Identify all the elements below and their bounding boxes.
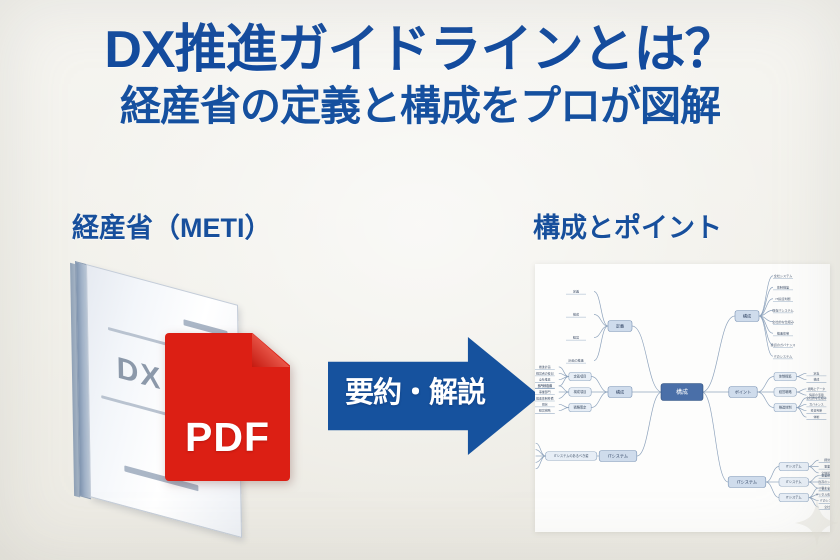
mindmap-node[interactable]: 戦略策定 xyxy=(569,403,591,412)
mindmap-leaf-label: 経営者の役割 xyxy=(536,370,553,375)
mindmap-leaf-label: 定義 xyxy=(573,289,579,294)
mindmap-card[interactable]: 定義構成経営計画の推進定義定義項目推進計画経営者の役割全社推進部門の役割構成項目… xyxy=(535,264,830,532)
mindmap-link xyxy=(809,467,819,473)
mindmap-leaf-label: 構成 xyxy=(573,312,579,317)
mindmap-link xyxy=(591,392,608,408)
mindmap-leaf[interactable]: デジタル化のテーマ xyxy=(816,491,830,497)
mindmap-node-label: ITシステム xyxy=(786,495,802,500)
mindmap-link xyxy=(591,377,608,393)
arrow-label: 要約・解説 xyxy=(340,369,490,411)
mindmap-leaf[interactable]: 構成 xyxy=(566,312,586,318)
mindmap-leaf[interactable]: 定義 xyxy=(566,289,586,295)
slide-canvas: DX推進ガイドラインとは？ 経産省の定義と構成をプロが図解 経産省（METI） … xyxy=(0,0,840,560)
mindmap-node-label: ITシステム xyxy=(786,464,802,469)
mindmap-leaf[interactable]: 戦略とデータ xyxy=(806,386,826,392)
mindmap-node[interactable]: 構成 xyxy=(735,311,759,322)
mindmap-node[interactable]: 構成 xyxy=(608,387,632,398)
mindmap-leaf-label: 戦略とデータ xyxy=(808,386,825,391)
mindmap-leaf-label: 経営者 xyxy=(824,457,830,462)
mindmap-diagram: 定義構成経営計画の推進定義定義項目推進計画経営者の役割全社推進部門の役割構成項目… xyxy=(535,264,830,532)
mindmap-leaf-label: 体制構築 xyxy=(777,284,789,289)
mindmap-link xyxy=(757,392,774,408)
mindmap-node-label: 経営戦略 xyxy=(779,389,793,394)
page-title: DX推進ガイドラインとは？ xyxy=(0,22,840,78)
mindmap-leaf[interactable]: 推進計画 xyxy=(535,364,555,370)
mindmap-leaf-label: ITのシステム xyxy=(774,353,792,358)
mindmap-leaf[interactable]: 定義 xyxy=(806,370,826,376)
mindmap-node-label: 戦略策定 xyxy=(574,405,588,410)
mindmap-leaf-label: 事業者 xyxy=(824,464,830,469)
mindmap-node-label: 構成 xyxy=(676,388,688,396)
mindmap-leaf[interactable]: 全社推進 xyxy=(535,377,555,383)
mindmap-leaf-label: 経営戦略 xyxy=(539,408,551,413)
mindmap-leaf[interactable]: 投資のガバナンス xyxy=(771,342,796,348)
mindmap-leaf-label: 全社的な仕組み xyxy=(806,395,826,400)
mindmap-link xyxy=(809,482,819,488)
mindmap-node-label: 推進体制 xyxy=(779,405,792,410)
mindmap-node[interactable]: ITシステム xyxy=(599,451,637,462)
mindmap-node-label: 構成 xyxy=(743,312,751,318)
mindmap-leaf[interactable]: 構成 xyxy=(806,377,826,383)
mindmap-link xyxy=(796,392,806,395)
mindmap-leaf[interactable]: 経営戦略 xyxy=(535,408,555,414)
mindmap-leaf-label: 既存ITシステム xyxy=(772,307,793,312)
pdf-label: PDF xyxy=(165,414,290,461)
mindmap-link xyxy=(759,287,773,316)
mindmap-link xyxy=(559,373,569,376)
mindmap-leaf-label: 経営 xyxy=(573,335,579,340)
mindmap-leaf[interactable]: 推進体制整備 xyxy=(535,395,555,401)
mindmap-link xyxy=(559,404,569,407)
mindmap-leaf[interactable]: 経営 xyxy=(566,335,586,341)
mindmap-node[interactable]: 定義項目 xyxy=(569,372,591,381)
mindmap-link xyxy=(796,404,806,407)
header-block: DX推進ガイドラインとは？ 経産省の定義と構成をプロが図解 xyxy=(0,22,840,129)
mindmap-link xyxy=(759,316,773,356)
mindmap-leaf[interactable]: ITのシステム xyxy=(819,498,830,504)
mindmap-leaf[interactable]: 事業部門 xyxy=(535,389,555,395)
mindmap-leaf-label: 投資のガバナンス xyxy=(771,342,796,347)
mindmap-leaf[interactable]: 全社的な仕組み xyxy=(806,395,826,401)
mindmap-leaf-label: 投資判断 xyxy=(811,408,823,413)
section-label-left: 経産省（METI） xyxy=(72,206,272,245)
mindmap-leaf[interactable]: 現状 xyxy=(535,401,555,407)
mindmap-node[interactable]: ITシステムのあるべき姿 xyxy=(546,452,597,461)
mindmap-node-label: ITシステム xyxy=(737,478,757,484)
mindmap-node[interactable]: 体制構築 xyxy=(774,372,796,381)
pdf-file-icon: PDF xyxy=(165,333,290,481)
mindmap-node-label: 体制構築 xyxy=(779,374,793,379)
mindmap-leaf-label: 計画の推進 xyxy=(568,358,583,363)
mindmap-leaf-label: 体制 xyxy=(814,414,820,419)
mindmap-leaf-label: 全社システム xyxy=(774,273,792,278)
mindmap-leaf-label: 事業部大型 xyxy=(821,473,830,478)
mindmap-leaf[interactable]: 推進体制 xyxy=(773,330,793,336)
mindmap-node-label: ITシステム xyxy=(786,479,802,484)
mindmap-node[interactable]: 推進体制 xyxy=(774,403,796,412)
document-cover-text: DX xyxy=(116,351,162,397)
mindmap-node-label: ポイント xyxy=(735,388,751,394)
mindmap-leaf[interactable]: 経営者 xyxy=(819,457,830,463)
mindmap-link xyxy=(759,276,773,316)
mindmap-leaf-label: 全社的 xyxy=(824,504,830,509)
mindmap-link xyxy=(796,373,806,376)
mindmap-leaf[interactable]: ITのシステム xyxy=(773,353,793,359)
mindmap-link xyxy=(559,392,569,398)
mindmap-leaf-label: 現状 xyxy=(542,401,548,406)
mindmap-leaf-label: 推進計画 xyxy=(539,364,551,369)
mindmap-link xyxy=(759,316,773,345)
mindmap-node-label: 構成項目 xyxy=(574,389,587,394)
mindmap-link xyxy=(637,392,662,456)
mindmap-link xyxy=(809,460,819,466)
mindmap-node[interactable]: 構成項目 xyxy=(569,388,591,397)
mindmap-node[interactable]: ポイント xyxy=(729,387,757,398)
mindmap-node-label: 定義 xyxy=(616,322,624,328)
mindmap-node[interactable]: ITシステム xyxy=(779,462,809,471)
mindmap-leaf[interactable]: 体制 xyxy=(806,414,826,420)
mindmap-node[interactable]: ITシステム xyxy=(728,477,766,488)
mindmap-node-label: 構成 xyxy=(616,388,624,394)
mindmap-node[interactable]: 定義 xyxy=(608,321,632,332)
mindmap-leaf[interactable]: IT人材育成 xyxy=(535,383,555,389)
mindmap-node[interactable]: 経営戦略 xyxy=(774,388,796,397)
mindmap-leaf-label: 構成 xyxy=(814,377,820,382)
mindmap-leaf[interactable]: 経営者の役割 xyxy=(535,370,555,376)
mindmap-leaf[interactable]: 投資判断 xyxy=(806,408,826,414)
mindmap-leaf[interactable]: 事業者 xyxy=(819,464,830,470)
mindmap-leaf[interactable]: 体制構築 xyxy=(773,284,793,290)
mindmap-link xyxy=(766,482,779,498)
section-label-right: 構成とポイント xyxy=(533,206,722,245)
mindmap-link xyxy=(809,476,819,482)
mindmap-link xyxy=(766,467,779,483)
mindmap-link xyxy=(632,326,662,392)
mindmap-leaf[interactable]: 全社システム xyxy=(773,273,793,279)
process-arrow: 要約・解説 xyxy=(328,337,540,455)
mindmap-link xyxy=(559,386,569,392)
mindmap-leaf[interactable]: 全社的な仕組み xyxy=(772,319,794,325)
mindmap-node[interactable]: ITシステム xyxy=(779,493,809,502)
mindmap-leaf[interactable]: 全社的 xyxy=(819,504,830,510)
mindmap-leaf-label: 全社推進 xyxy=(539,377,551,382)
mindmap-node-label: ITシステム xyxy=(608,452,628,458)
mindmap-link xyxy=(702,392,728,482)
mindmap-node[interactable]: 構成 xyxy=(661,384,703,401)
mindmap-node[interactable]: ITシステム xyxy=(779,478,809,487)
mindmap-link xyxy=(702,316,735,392)
mindmap-leaf-label: 定義 xyxy=(814,370,820,375)
page-subtitle: 経産省の定義と構成をプロが図解 xyxy=(0,84,840,129)
mindmap-leaf-label: 既存のシステム xyxy=(819,479,830,484)
mindmap-leaf[interactable]: ガバナンス xyxy=(806,401,826,407)
mindmap-leaf-label: 全社的な仕組み xyxy=(772,319,794,324)
mindmap-link xyxy=(796,377,806,380)
mindmap-leaf-label: 推進体制 xyxy=(777,330,789,335)
mindmap-leaf-label: 事業部門 xyxy=(539,389,551,394)
mindmap-node-label: 定義項目 xyxy=(574,374,587,379)
mindmap-leaf-label: デジタル化のテーマ xyxy=(816,491,830,496)
mindmap-leaf[interactable]: IT投資判断 xyxy=(773,296,793,302)
mindmap-link xyxy=(796,389,806,392)
mindmap-leaf[interactable]: 計画の推進 xyxy=(566,358,586,364)
mindmap-leaf-label: IT投資判断 xyxy=(775,296,790,301)
mindmap-leaf-label: ガバナンス xyxy=(809,401,824,406)
mindmap-link xyxy=(559,408,569,411)
mindmap-leaf-label: ITのシステム xyxy=(820,498,830,503)
mindmap-leaf-label: IT人材育成 xyxy=(538,383,552,388)
mindmap-leaf[interactable]: 既存ITシステム xyxy=(772,307,793,313)
mindmap-leaf[interactable]: 既存のシステム xyxy=(819,479,830,485)
mindmap-node-label: ITシステムのあるべき姿 xyxy=(554,453,589,458)
mindmap-leaf-label: 推進体制整備 xyxy=(536,395,553,400)
mindmap-link xyxy=(757,377,774,393)
mindmap-leaf-label: 新たな価値 xyxy=(821,485,830,490)
